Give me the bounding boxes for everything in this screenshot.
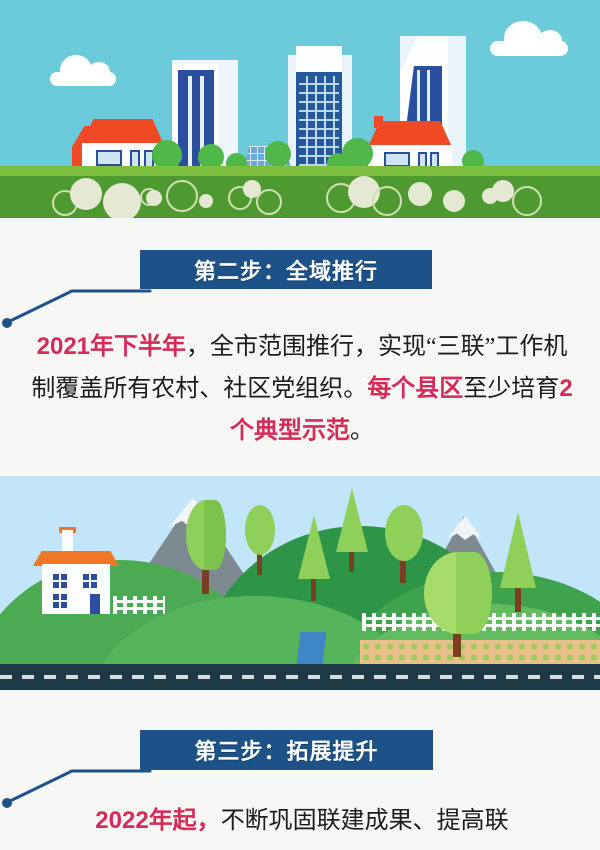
cloud-icon	[50, 72, 116, 86]
cloud-icon	[490, 41, 568, 56]
step-3-highlight-1: 2022年起，	[95, 807, 220, 834]
step-2-text-3: 。	[350, 418, 374, 444]
decor-circle	[166, 180, 198, 212]
farmhouse-window	[53, 594, 67, 608]
decor-circle	[199, 194, 213, 208]
step-2-badge: 第二步：全域推行	[140, 250, 432, 289]
step-3-paragraph: 2022年起，不断巩固联建成果、提高联	[28, 800, 576, 842]
farmhouse-window	[83, 574, 97, 588]
picket-fence-left	[113, 596, 165, 614]
decor-circle	[256, 189, 282, 215]
decor-circle	[103, 183, 141, 218]
step-2-highlight-1: 2021年下半年	[37, 333, 186, 360]
decor-circle	[372, 186, 402, 216]
farmhouse-window	[53, 574, 67, 588]
infographic-page: 第二步：全域推行 2021年下半年，全市范围推行，实现“三联”工作机制覆盖所有农…	[0, 0, 600, 850]
step-3-badge: 第三步：拓展提升	[140, 730, 433, 770]
step-2-highlight-2: 每个县区	[367, 375, 463, 402]
decor-circle	[408, 182, 432, 206]
farmhouse-door	[90, 594, 100, 614]
step-2-text-2: 至少培育	[463, 376, 559, 402]
decor-circle	[70, 178, 102, 210]
tower-mullion	[417, 70, 420, 124]
step-3-badge-label: 第三步：拓展提升	[194, 734, 378, 766]
step-2-badge-label: 第二步：全域推行	[194, 254, 378, 286]
house-window	[384, 152, 410, 167]
decor-circle	[512, 186, 542, 216]
house-roof	[82, 119, 164, 145]
road-center-line	[0, 675, 600, 679]
house-roof	[368, 121, 452, 147]
step-2-paragraph: 2021年下半年，全市范围推行，实现“三联”工作机制覆盖所有农村、社区党组织。每…	[28, 326, 576, 452]
decor-circle	[443, 190, 465, 212]
house-window	[96, 150, 122, 166]
step-2-connector-line	[0, 280, 160, 332]
decor-circle	[492, 180, 514, 202]
tower-mullion	[427, 70, 430, 124]
chimney-icon	[62, 530, 73, 553]
decor-circle	[146, 190, 162, 206]
city-illustration	[0, 0, 600, 218]
step-3-text-1: 不断巩固联建成果、提高联	[221, 808, 509, 834]
